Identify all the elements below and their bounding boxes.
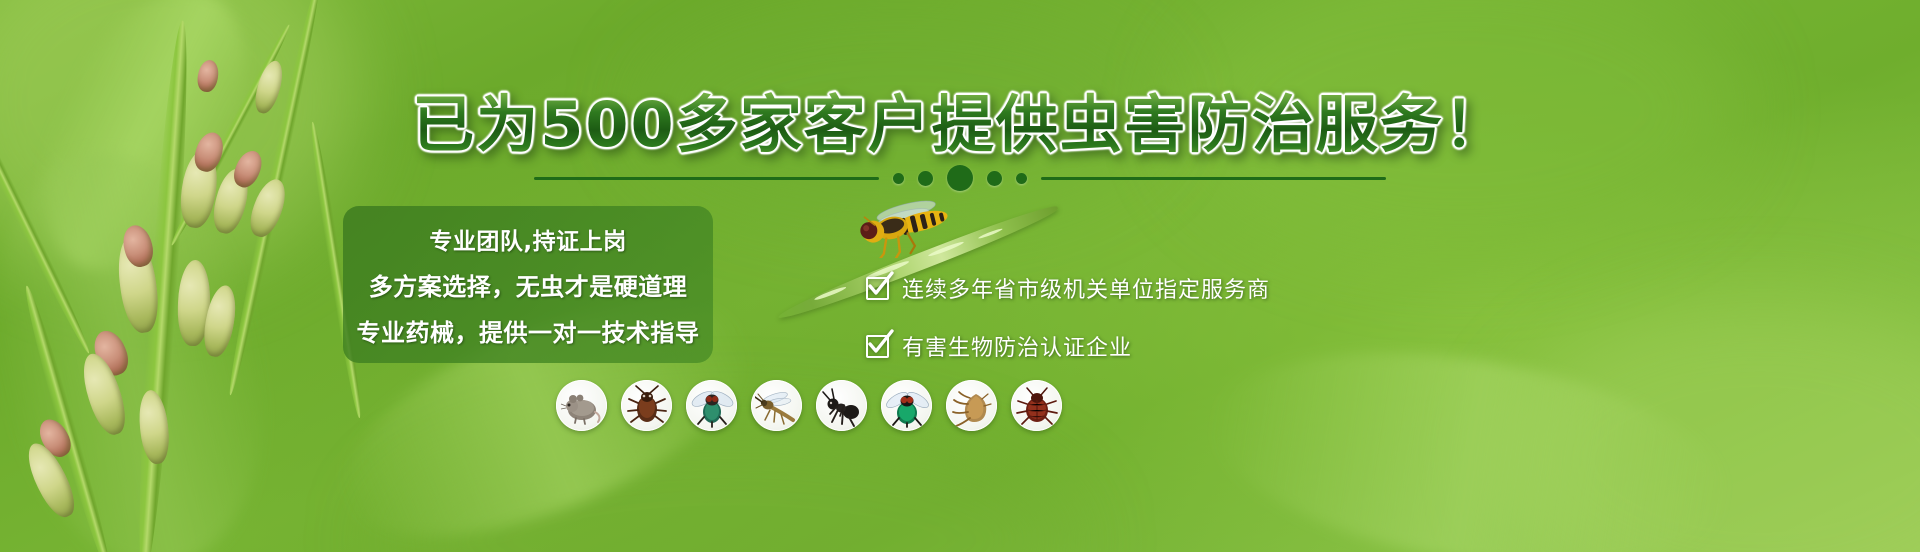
green-fly-icon (885, 384, 929, 428)
divider-dot-medium-left (918, 171, 933, 186)
pest-icon-green-fly[interactable] (881, 380, 932, 431)
credential-bullet-1: 连续多年省市级机关单位指定服务商 (866, 272, 1270, 304)
rat-icon (560, 384, 604, 428)
ant-icon (820, 384, 864, 428)
pest-icon-fly[interactable] (686, 380, 737, 431)
credential-bullet-1-text: 连续多年省市级机关单位指定服务商 (902, 272, 1270, 304)
headline-text: 已为500多家客户提供虫害防治服务！ (412, 74, 1507, 164)
background-blob-4 (380, 420, 1080, 552)
divider-rule-right (1041, 177, 1386, 180)
checkbox-checked-icon (866, 277, 889, 300)
checkbox-checked-icon (866, 335, 889, 358)
mosquito-icon (755, 384, 799, 428)
pest-icon-rat[interactable] (556, 380, 607, 431)
background-blob-3 (1500, 300, 1920, 552)
pest-icon-cockroach[interactable] (621, 380, 672, 431)
divider-dot-small-right (1016, 173, 1027, 184)
promo-line-3: 专业药械，提供一对一技术指导 (357, 313, 700, 348)
banner-headline: 已为500多家客户提供虫害防治服务！ (0, 74, 1920, 164)
cockroach-icon (625, 384, 669, 428)
bedbug-icon (1015, 384, 1059, 428)
decorative-divider (0, 160, 1920, 196)
pest-icon-flea[interactable] (946, 380, 997, 431)
credential-bullet-2-text: 有害生物防治认证企业 (902, 330, 1132, 362)
promo-line-1: 专业团队,持证上岗 (429, 222, 626, 256)
fly-icon (690, 384, 734, 428)
flea-icon (950, 384, 994, 428)
pest-icon-bedbug[interactable] (1011, 380, 1062, 431)
background-foliage-band-4 (1198, 321, 1743, 552)
hoverfly-icon (848, 196, 960, 258)
promo-text-panel: 专业团队,持证上岗 多方案选择，无虫才是硬道理 专业药械，提供一对一技术指导 (343, 206, 713, 363)
divider-rule-left (534, 177, 879, 180)
promo-line-2: 多方案选择，无虫才是硬道理 (369, 267, 688, 302)
divider-dot-large-center (947, 165, 973, 191)
divider-dot-medium-right (987, 171, 1002, 186)
pest-icon-mosquito[interactable] (751, 380, 802, 431)
pest-icon-row (556, 380, 1062, 431)
credential-bullet-list: 连续多年省市级机关单位指定服务商 有害生物防治认证企业 (866, 272, 1270, 362)
pest-icon-ant[interactable] (816, 380, 867, 431)
credential-bullet-2: 有害生物防治认证企业 (866, 330, 1270, 362)
divider-dot-small-left (893, 173, 904, 184)
hero-banner: 已为500多家客户提供虫害防治服务！ 专业团队,持证上岗 多方案选择，无虫才是硬… (0, 0, 1920, 552)
